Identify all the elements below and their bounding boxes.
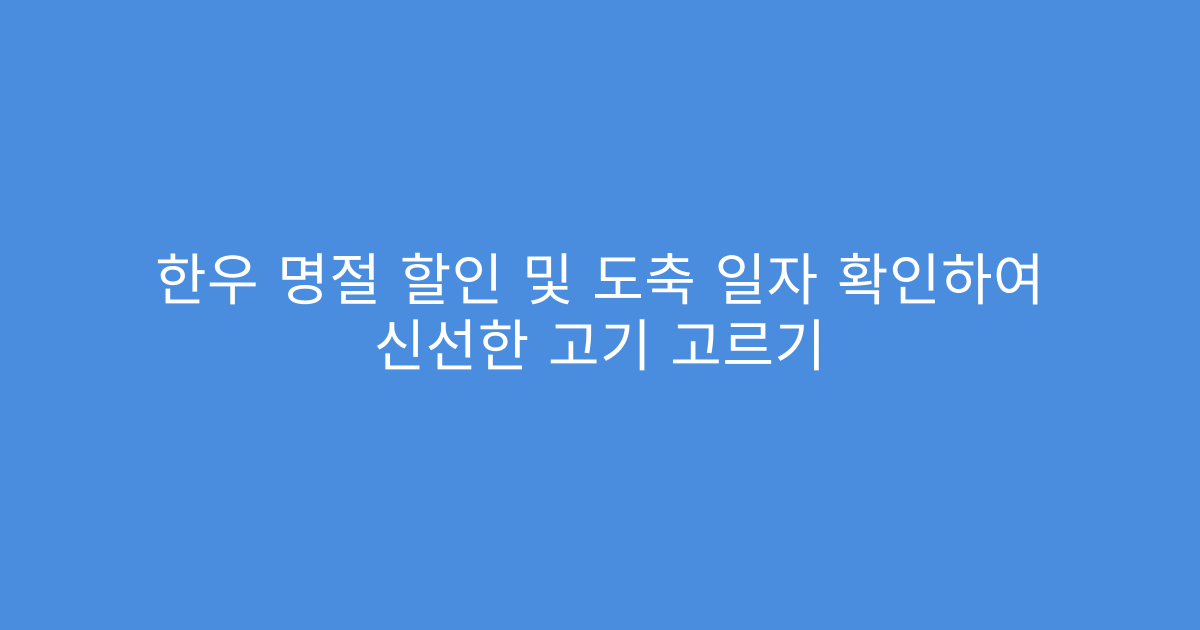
page-title: 한우 명절 할인 및 도축 일자 확인하여 신선한 고기 고르기: [70, 249, 1130, 381]
card-title-block: 한우 명절 할인 및 도축 일자 확인하여 신선한 고기 고르기: [50, 249, 1150, 381]
social-share-card: 한우 명절 할인 및 도축 일자 확인하여 신선한 고기 고르기: [0, 0, 1200, 630]
